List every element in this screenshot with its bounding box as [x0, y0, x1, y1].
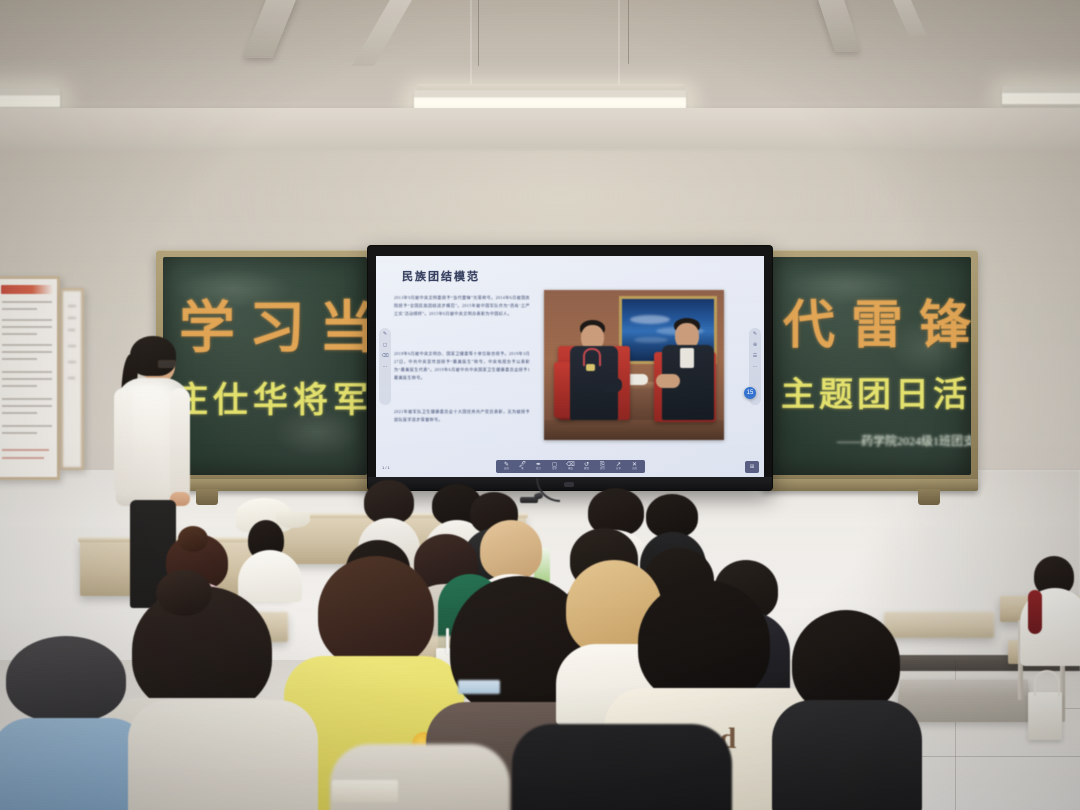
photo-person-leader — [660, 318, 718, 420]
blackboard-right-signature: ——药学院2024级1班团支部 — [837, 435, 971, 447]
ceiling-beam — [242, 0, 297, 58]
chalk-tray-right — [762, 479, 978, 491]
phone-on-desk — [458, 680, 500, 694]
rail-dots-icon[interactable]: ⋯ — [753, 364, 758, 370]
slide-paragraph: 2018年6月被中央文明办、国家卫健委等十单位联合授予。2019年3月27日，中… — [394, 350, 530, 382]
display-ir-sensor — [564, 482, 574, 487]
poster-header-bar — [1, 285, 53, 294]
student-foreground-dark — [512, 724, 732, 810]
tote-bag-handle — [1034, 670, 1060, 696]
toolbar-item[interactable]: ✕ 关闭 — [627, 461, 642, 472]
slide-screen[interactable]: 民族团结模范 2013年9月被中央文明委授予“当代雷锋”光荣称号。2014年6月… — [376, 256, 764, 477]
presenter-arm-right — [170, 388, 190, 498]
rail-shape-icon[interactable]: ◻ — [383, 342, 387, 348]
rail-pen-icon[interactable]: ✎ — [383, 331, 387, 337]
toolbar-item[interactable]: ⌫ 橡皮 — [563, 461, 578, 472]
student-front-dark — [772, 610, 922, 810]
presenter-arm-left — [114, 388, 133, 496]
toolbar-item[interactable]: ⎘ 保存 — [595, 461, 610, 472]
ceiling-beam — [817, 0, 861, 52]
ceiling-beam — [352, 0, 414, 66]
toolbar-item[interactable]: ↗ 分享 — [611, 461, 626, 472]
slide-toolbar[interactable]: ✎ 选择 🖋 笔 ✒ 批注 ◻ 形状 ⌫ 橡皮 — [496, 460, 645, 473]
slide-title: 民族团结模范 — [402, 268, 480, 284]
blackboard-right-line2: 主题团日活动 — [781, 379, 971, 413]
toolbar-item-label: 选择 — [504, 468, 509, 470]
lamp-wire — [628, 0, 629, 64]
rail-more-icon[interactable]: ⋯ — [383, 364, 388, 370]
toolbar-item-label: 撤销 — [584, 468, 589, 470]
slide-page-badge[interactable]: 15 — [744, 387, 756, 399]
page-indicator-text: 1 / 1 — [382, 465, 390, 470]
rail-erase-icon[interactable]: ⌫ — [381, 353, 388, 359]
classroom-photo: 学习当 庄仕华将军 代雷锋 主题团日活动 ——药学院2024级1班团支部 民族团… — [0, 0, 1080, 810]
grid-icon[interactable]: ⊞ — [750, 464, 754, 470]
toolbar-item-label: 笔 — [521, 468, 524, 470]
photo-person-general — [570, 320, 630, 420]
student-scarf — [1028, 590, 1042, 634]
blackboard-right: 代雷锋 主题团日活动 ——药学院2024级1班团支部 — [762, 250, 978, 482]
student-right-side — [1020, 556, 1080, 666]
toolbar-item-label: 形状 — [552, 468, 557, 470]
ceiling-lamp-left — [0, 88, 60, 108]
ceiling-lamp-center — [414, 90, 686, 110]
slide-paragraph: 2013年9月被中央文明委授予“当代雷锋”光荣称号。2014年6月被国务院授予“… — [394, 294, 530, 318]
blackboard-left-line2: 庄仕华将军 — [173, 383, 367, 418]
wall-poster-secondary — [60, 288, 84, 470]
toolbar-item[interactable]: ↺ 撤销 — [579, 461, 594, 472]
toolbar-item-label: 橡皮 — [568, 468, 573, 470]
toolbar-item[interactable]: 🖋 笔 — [515, 461, 530, 472]
slide-photo — [544, 290, 724, 440]
ceiling-edge-trim — [0, 108, 1080, 154]
desk-paper — [332, 780, 398, 802]
rail-list-icon[interactable]: ☰ — [753, 353, 757, 359]
wall-poster-regulations — [0, 276, 60, 480]
slide-paragraph: 2021年被军队卫生健康委员会十大国优秀共产党员表彰，无为被授予部队医学进步荣誉… — [394, 408, 530, 424]
presenter-hair — [130, 336, 176, 376]
lamp-wire — [478, 0, 479, 66]
ceiling-lamp-right — [1002, 86, 1080, 105]
blackboard-right-surface: 代雷锋 主题团日活动 ——药学院2024级1班团支部 — [769, 257, 971, 475]
chalk-tray-holder — [196, 489, 218, 505]
toolbar-item[interactable]: ✒ 批注 — [531, 461, 546, 472]
presenter-glasses — [158, 360, 176, 368]
toolbar-item-label: 关闭 — [632, 468, 637, 470]
slide-page-indicator: 1 / 1 — [382, 461, 390, 473]
slide-corner-button[interactable]: ⊞ — [745, 461, 759, 473]
toolbar-item-label: 分享 — [616, 468, 621, 470]
toolbar-item[interactable]: ◻ 形状 — [547, 461, 562, 472]
toolbar-item-label: 保存 — [600, 468, 605, 470]
student-front-foreground — [128, 700, 318, 810]
rail-edit-icon[interactable]: ✎ — [753, 331, 757, 337]
chalk-tray-holder — [918, 489, 940, 505]
blackboard-right-line1: 代雷锋 — [783, 301, 971, 353]
toolbar-item-label: 批注 — [536, 468, 541, 470]
slide-left-rail[interactable]: ✎ ◻ ⌫ ⋯ — [379, 328, 391, 405]
tote-bag — [1028, 692, 1062, 740]
rail-zoom-icon[interactable]: ⊕ — [753, 342, 757, 348]
toolbar-item[interactable]: ✎ 选择 — [499, 461, 514, 472]
photo-floor — [544, 420, 724, 440]
blackboard-left-line1: 学习当 — [179, 301, 367, 357]
ceiling-beam — [891, 0, 927, 36]
wall-display[interactable]: 民族团结模范 2013年9月被中央文明委授予“当代雷锋”光荣称号。2014年6月… — [368, 246, 772, 490]
